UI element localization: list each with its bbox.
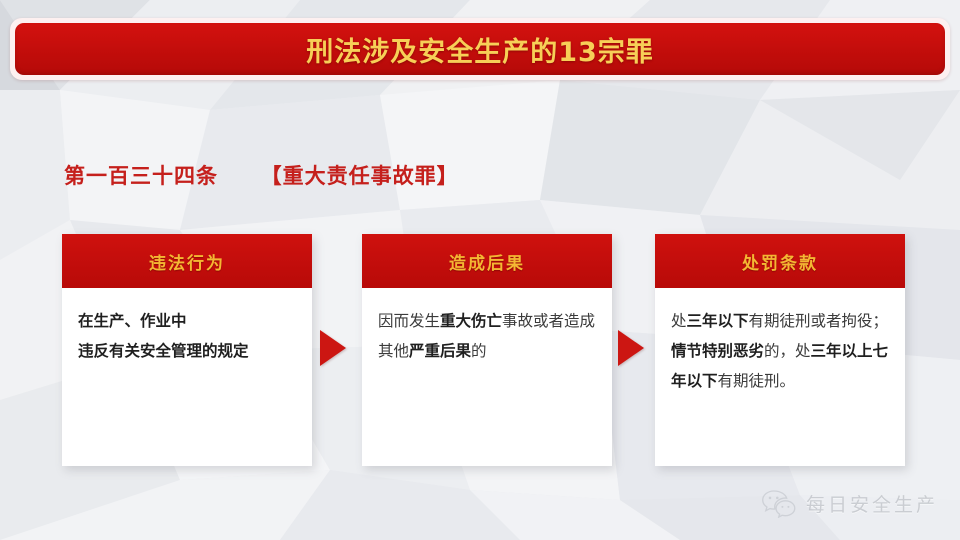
- text-run: 处: [671, 312, 687, 330]
- arrow-right-icon: [618, 330, 644, 366]
- watermark-label: 每日安全生产: [806, 490, 938, 517]
- card-consequence-header-label: 造成后果: [449, 249, 525, 274]
- card-violation: 违法行为 在生产、作业中违反有关安全管理的规定: [62, 234, 312, 466]
- title-banner-fill: 刑法涉及安全生产的13宗罪: [15, 23, 945, 75]
- text-run: 情节特别恶劣: [671, 342, 764, 360]
- card-violation-header: 违法行为: [62, 234, 312, 288]
- card-consequence: 造成后果 因而发生重大伤亡事故或者造成其他严重后果的: [362, 234, 612, 466]
- card-penalty: 处罚条款 处三年以下有期徒刑或者拘役；情节特别恶劣的，处三年以上七年以下有期徒刑…: [655, 234, 905, 466]
- crime-name: 【重大责任事故罪】: [261, 164, 459, 188]
- card-penalty-header-label: 处罚条款: [742, 249, 818, 274]
- text-run: 的，处: [764, 342, 811, 360]
- text-run: 的: [471, 342, 487, 360]
- slide-canvas: 刑法涉及安全生产的13宗罪 第一百三十四条 【重大责任事故罪】 违法行为 在生产…: [0, 0, 960, 540]
- card-consequence-body: 因而发生重大伤亡事故或者造成其他严重后果的: [362, 288, 612, 376]
- text-run: 违反有关安全管理的规定: [78, 342, 249, 360]
- card-penalty-header: 处罚条款: [655, 234, 905, 288]
- card-violation-body: 在生产、作业中违反有关安全管理的规定: [62, 288, 312, 376]
- text-run: 重大伤亡: [440, 312, 502, 330]
- text-run: 在生产、作业中: [78, 312, 187, 330]
- article-number: 第一百三十四条: [64, 164, 218, 188]
- card-consequence-header: 造成后果: [362, 234, 612, 288]
- card-violation-header-label: 违法行为: [149, 249, 225, 274]
- text-run: 有期徒刑或者拘役；: [749, 312, 889, 330]
- text-run: 因而发生: [378, 312, 440, 330]
- watermark: 每日安全生产: [761, 488, 938, 518]
- article-subtitle: 第一百三十四条 【重大责任事故罪】: [64, 160, 459, 190]
- wechat-icon: [761, 488, 797, 518]
- arrow-right-icon: [320, 330, 346, 366]
- text-run: 严重后果: [409, 342, 471, 360]
- page-title: 刑法涉及安全生产的13宗罪: [306, 30, 654, 69]
- card-penalty-body: 处三年以下有期徒刑或者拘役；情节特别恶劣的，处三年以上七年以下有期徒刑。: [655, 288, 905, 407]
- text-run: 三年以下: [687, 312, 749, 330]
- title-banner: 刑法涉及安全生产的13宗罪: [10, 18, 950, 80]
- text-run: 有期徒刑。: [718, 372, 796, 390]
